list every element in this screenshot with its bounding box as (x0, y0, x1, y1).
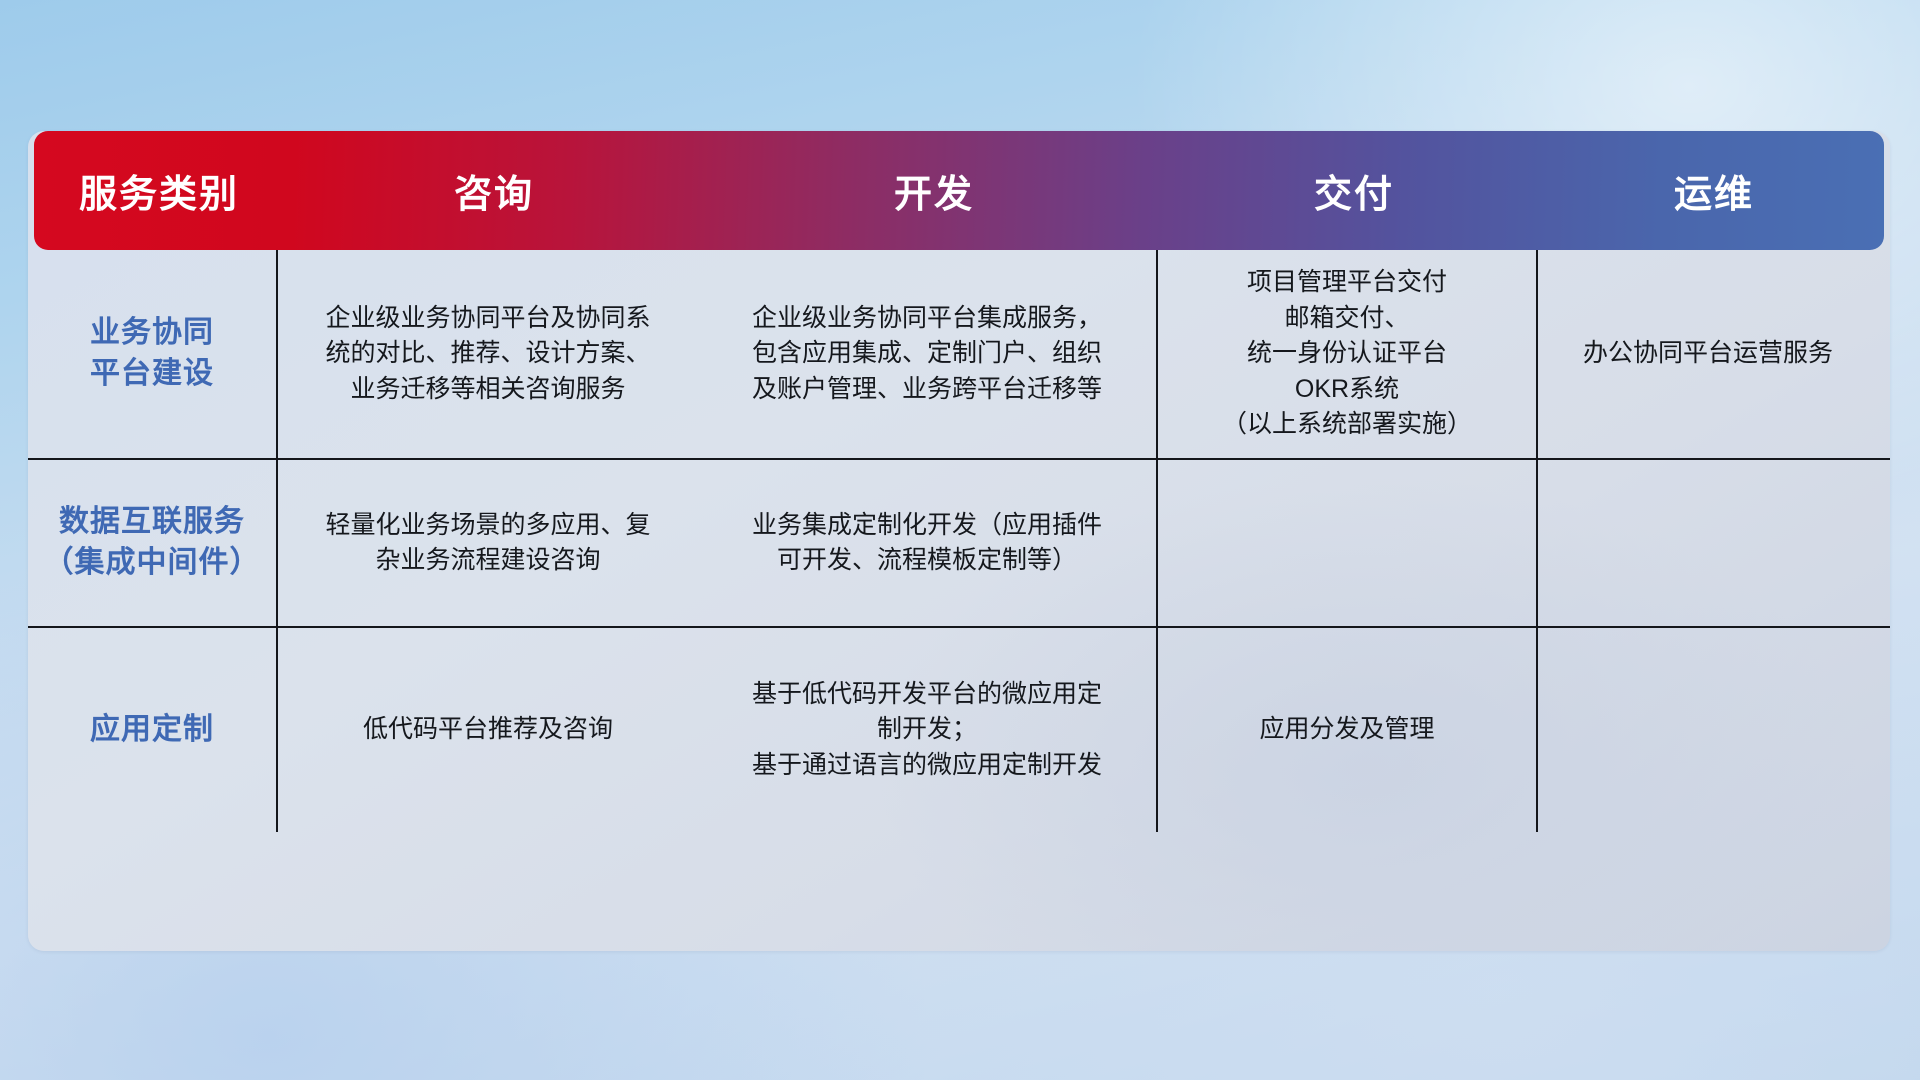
cell-operations: 办公协同平台运营服务 (1538, 250, 1878, 458)
cell-development: 业务集成定制化开发（应用插件 可开发、流程模板定制等） (698, 460, 1158, 626)
row-category-label: 数据互联服务 （集成中间件） (28, 460, 278, 626)
cell-delivery (1158, 460, 1538, 626)
row-category-label: 业务协同 平台建设 (28, 250, 278, 458)
cell-consulting: 轻量化业务场景的多应用、复 杂业务流程建设咨询 (278, 460, 698, 626)
cell-delivery: 应用分发及管理 (1158, 628, 1538, 832)
cell-consulting: 低代码平台推荐及咨询 (278, 628, 698, 832)
column-header-delivery: 交付 (1164, 163, 1544, 218)
cell-delivery: 项目管理平台交付 邮箱交付、 统一身份认证平台 OKR系统 （以上系统部署实施） (1158, 250, 1538, 458)
table-row: 数据互联服务 （集成中间件） 轻量化业务场景的多应用、复 杂业务流程建设咨询 业… (28, 458, 1890, 626)
table-body: 业务协同 平台建设 企业级业务协同平台及协同系 统的对比、推荐、设计方案、 业务… (28, 250, 1890, 832)
cell-operations (1538, 460, 1878, 626)
cell-development: 基于低代码开发平台的微应用定 制开发； 基于通过语言的微应用定制开发 (698, 628, 1158, 832)
table-header-row: 服务类别 咨询 开发 交付 运维 (34, 131, 1884, 250)
cell-consulting: 企业级业务协同平台及协同系 统的对比、推荐、设计方案、 业务迁移等相关咨询服务 (278, 250, 698, 458)
table-row: 业务协同 平台建设 企业级业务协同平台及协同系 统的对比、推荐、设计方案、 业务… (28, 250, 1890, 458)
column-header-operations: 运维 (1544, 163, 1884, 218)
cell-operations (1538, 628, 1878, 832)
table-row: 应用定制 低代码平台推荐及咨询 基于低代码开发平台的微应用定 制开发； 基于通过… (28, 626, 1890, 832)
row-category-label: 应用定制 (28, 628, 278, 832)
column-header-development: 开发 (704, 163, 1164, 218)
column-header-consulting: 咨询 (284, 163, 704, 218)
column-header-category: 服务类别 (34, 163, 284, 218)
cell-development: 企业级业务协同平台集成服务， 包含应用集成、定制门户、组织 及账户管理、业务跨平… (698, 250, 1158, 458)
